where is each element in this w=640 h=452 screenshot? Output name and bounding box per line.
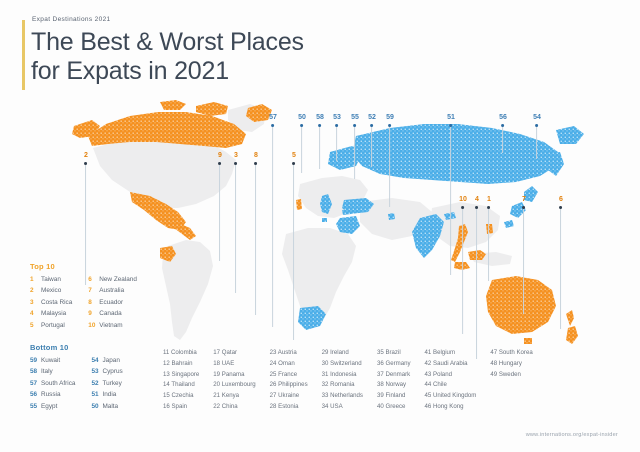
- rank-number: 6: [88, 275, 99, 285]
- country-name: Hong Kong: [433, 403, 464, 410]
- list-item: 20 Luxembourg: [213, 380, 255, 390]
- rank-number: 26: [270, 381, 278, 388]
- list-item: 6New Zealand: [88, 275, 137, 285]
- legend-top10-column: 1Taiwan2Mexico3Costa Rica4Malaysia5Portu…: [30, 275, 72, 331]
- list-item: 14 Thailand: [163, 380, 199, 390]
- rank-number: 55: [30, 402, 41, 412]
- marker-leader-line: [256, 165, 257, 315]
- country-name: Italy: [41, 367, 53, 377]
- rank-number: 46: [425, 403, 433, 410]
- marker-rank-label: 2: [84, 152, 88, 159]
- rank-number: 58: [30, 367, 41, 377]
- list-item: 7Australia: [88, 286, 137, 296]
- list-item: 54Japan: [91, 356, 122, 366]
- country-name: New Zealand: [99, 275, 137, 285]
- country-name: Oman: [278, 360, 295, 367]
- marker-rank-label: 9: [218, 152, 222, 159]
- country-name: Japan: [102, 356, 119, 366]
- rank-number: 8: [88, 298, 99, 308]
- rank-number: 59: [30, 356, 41, 366]
- country-name: Norway: [385, 381, 406, 388]
- marker-leader-line: [220, 165, 221, 261]
- best-marker-10: 10: [459, 196, 467, 334]
- list-item: 46 Hong Kong: [425, 402, 477, 412]
- list-item: 31 Indonesia: [322, 370, 363, 380]
- country-name: Czechia: [171, 392, 193, 399]
- country-name: Bahrain: [171, 360, 192, 367]
- rank-number: 48: [490, 360, 498, 367]
- country-name: Thailand: [171, 381, 194, 388]
- worst-marker-52: 52: [368, 114, 376, 167]
- best-marker-7: 7: [522, 196, 526, 314]
- list-item: 42 Saudi Arabia: [425, 359, 477, 369]
- list-item: 57South Africa: [30, 379, 75, 389]
- country-name: Colombia: [171, 349, 197, 356]
- list-item: 49 Sweden: [490, 370, 532, 380]
- list-item: 51India: [91, 390, 122, 400]
- rank-number: 47: [490, 349, 498, 356]
- country-name: Australia: [99, 286, 124, 296]
- worst-marker-50: 50: [298, 114, 306, 173]
- title-accent-bar: [22, 20, 25, 90]
- worst-marker-58: 58: [316, 114, 324, 169]
- country-name: France: [278, 371, 297, 378]
- marker-rank-label: 3: [234, 152, 238, 159]
- list-item: 41 Belgium: [425, 348, 477, 358]
- legend-top10-heading: Top 10: [30, 262, 137, 271]
- marker-leader-line: [462, 209, 463, 334]
- best-marker-9: 9: [218, 152, 222, 261]
- header: Expat Destinations 2021 The Best & Worst…: [30, 16, 450, 87]
- list-item: 25 France: [270, 370, 308, 380]
- marker-rank-label: 52: [368, 114, 376, 121]
- rank-number: 9: [88, 309, 99, 319]
- list-item: 58Italy: [30, 367, 75, 377]
- list-item: 29 Ireland: [322, 348, 363, 358]
- rank-number: 5: [30, 321, 41, 331]
- country-name: Philippines: [278, 381, 307, 388]
- country-name: Canada: [99, 309, 121, 319]
- list-item: 16 Spain: [163, 402, 199, 412]
- country-name: Mexico: [41, 286, 61, 296]
- rank-number: 31: [322, 371, 330, 378]
- list-item: 35 Brazil: [377, 348, 411, 358]
- country-name: Portugal: [41, 321, 65, 331]
- list-item: 39 Finland: [377, 391, 411, 401]
- country-name: Taiwan: [41, 275, 61, 285]
- worst-marker-53: 53: [333, 114, 341, 161]
- worst-marker-59: 59: [386, 114, 394, 207]
- rank-number: 49: [490, 371, 498, 378]
- list-item: 21 Kenya: [213, 391, 255, 401]
- worst-marker-51: 51: [447, 114, 455, 275]
- list-item: 18 UAE: [213, 359, 255, 369]
- marker-rank-label: 53: [333, 114, 341, 121]
- country-name: Poland: [433, 371, 452, 378]
- country-name: Ukraine: [278, 392, 299, 399]
- rank-number: 32: [322, 381, 330, 388]
- country-name: Spain: [171, 403, 187, 410]
- legend-top10: Top 10 1Taiwan2Mexico3Costa Rica4Malaysi…: [30, 262, 137, 331]
- list-item: 44 Chile: [425, 380, 477, 390]
- rank-number: 54: [91, 356, 102, 366]
- page-title: The Best & Worst Places for Expats in 20…: [31, 28, 450, 87]
- list-item: 30 Switzerland: [322, 359, 363, 369]
- list-item: 3Costa Rica: [30, 298, 72, 308]
- ranking-column: 23 Austria24 Oman25 France26 Philippines…: [270, 348, 308, 412]
- list-item: 5Portugal: [30, 321, 72, 331]
- marker-rank-label: 55: [351, 114, 359, 121]
- rank-number: 44: [425, 381, 433, 388]
- rank-number: 19: [213, 371, 221, 378]
- ranking-column: 41 Belgium42 Saudi Arabia43 Poland44 Chi…: [425, 348, 477, 412]
- list-item: 52Turkey: [91, 379, 122, 389]
- rank-number: 34: [322, 403, 330, 410]
- list-item: 26 Philippines: [270, 380, 308, 390]
- marker-rank-label: 1: [487, 196, 491, 203]
- rank-number: 56: [30, 390, 41, 400]
- rank-number: 50: [91, 402, 102, 412]
- marker-rank-label: 50: [298, 114, 306, 121]
- list-item: 55Egypt: [30, 402, 75, 412]
- list-item: 40 Greece: [377, 402, 411, 412]
- rank-number: 33: [322, 392, 330, 399]
- country-name: Sweden: [499, 371, 521, 378]
- list-item: 45 United Kingdom: [425, 391, 477, 401]
- legend-bottom10-column: 59Kuwait58Italy57South Africa56Russia55E…: [30, 356, 75, 412]
- list-item: 4Malaysia: [30, 309, 72, 319]
- list-item: 32 Romania: [322, 380, 363, 390]
- country-name: Turkey: [102, 379, 121, 389]
- marker-leader-line: [502, 127, 503, 153]
- list-item: 23 Austria: [270, 348, 308, 358]
- rank-number: 41: [425, 349, 433, 356]
- list-item: 36 Germany: [377, 359, 411, 369]
- country-name: Germany: [385, 360, 410, 367]
- list-item: 48 Hungary: [490, 359, 532, 369]
- legend-bottom10-heading: Bottom 10: [30, 343, 123, 352]
- best-marker-4: 4: [475, 196, 479, 359]
- marker-rank-label: 6: [559, 196, 563, 203]
- marker-leader-line: [371, 127, 372, 167]
- rank-number: 23: [270, 349, 278, 356]
- list-item: 43 Poland: [425, 370, 477, 380]
- country-name: Kenya: [222, 392, 239, 399]
- country-name: Ecuador: [99, 298, 123, 308]
- ranking-column: 29 Ireland30 Switzerland31 Indonesia32 R…: [322, 348, 363, 412]
- list-item: 27 Ukraine: [270, 391, 308, 401]
- best-marker-8: 8: [254, 152, 258, 315]
- list-item: 10Vietnam: [88, 321, 137, 331]
- country-name: USA: [330, 403, 343, 410]
- country-name: Malta: [102, 402, 118, 412]
- rank-number: 4: [30, 309, 41, 319]
- list-item: 17 Qatar: [213, 348, 255, 358]
- rank-number: 2: [30, 286, 41, 296]
- marker-rank-label: 8: [254, 152, 258, 159]
- country-name: South Korea: [499, 349, 533, 356]
- country-name: Panama: [222, 371, 245, 378]
- kicker-label: Expat Destinations 2021: [32, 16, 450, 23]
- country-name: Hungary: [499, 360, 522, 367]
- list-item: 56Russia: [30, 390, 75, 400]
- legend-top10-columns: 1Taiwan2Mexico3Costa Rica4Malaysia5Portu…: [30, 275, 137, 331]
- list-item: 8Ecuador: [88, 298, 137, 308]
- marker-leader-line: [489, 209, 490, 281]
- best-marker-3: 3: [234, 152, 238, 293]
- rank-number: 27: [270, 392, 278, 399]
- country-name: Brazil: [385, 349, 400, 356]
- worst-marker-54: 54: [533, 114, 541, 159]
- marker-leader-line: [477, 209, 478, 359]
- rank-number: 53: [91, 367, 102, 377]
- country-name: Vietnam: [99, 321, 122, 331]
- rank-number: 28: [270, 403, 278, 410]
- marker-rank-label: 59: [386, 114, 394, 121]
- best-marker-1: 1: [487, 196, 491, 281]
- rank-number: 17: [213, 349, 221, 356]
- country-name: Romania: [330, 381, 354, 388]
- list-item: 12 Bahrain: [163, 359, 199, 369]
- marker-leader-line: [536, 127, 537, 159]
- list-item: 59Kuwait: [30, 356, 75, 366]
- marker-rank-label: 56: [499, 114, 507, 121]
- legend-bottom10-column: 54Japan53Cyprus52Turkey51India50Malta: [91, 356, 122, 412]
- list-item: 33 Netherlands: [322, 391, 363, 401]
- list-item: 53Cyprus: [91, 367, 122, 377]
- marker-rank-label: 58: [316, 114, 324, 121]
- country-name: Qatar: [222, 349, 237, 356]
- marker-leader-line: [389, 127, 390, 207]
- list-item: 15 Czechia: [163, 391, 199, 401]
- marker-leader-line: [236, 165, 237, 293]
- ranking-column: 47 South Korea48 Hungary49 Sweden: [490, 348, 532, 412]
- worst-marker-55: 55: [351, 114, 359, 179]
- list-item: 19 Panama: [213, 370, 255, 380]
- country-name: Ireland: [330, 349, 349, 356]
- country-name: UAE: [222, 360, 235, 367]
- best-marker-6: 6: [559, 196, 563, 329]
- marker-leader-line: [294, 165, 295, 340]
- country-name: Malaysia: [41, 309, 66, 319]
- worst-marker-56: 56: [499, 114, 507, 153]
- list-item: 22 China: [213, 402, 255, 412]
- country-name: Russia: [41, 390, 61, 400]
- country-name: Switzerland: [330, 360, 362, 367]
- marker-leader-line: [450, 127, 451, 275]
- ranking-column: 11 Colombia12 Bahrain13 Singapore14 Thai…: [163, 348, 199, 412]
- rank-number: 52: [91, 379, 102, 389]
- country-name: Netherlands: [330, 392, 363, 399]
- list-item: 37 Denmark: [377, 370, 411, 380]
- rank-number: 25: [270, 371, 278, 378]
- country-name: Estonia: [278, 403, 298, 410]
- list-item: 28 Estonia: [270, 402, 308, 412]
- rank-number: 10: [88, 321, 99, 331]
- marker-leader-line: [354, 127, 355, 179]
- country-name: Greece: [385, 403, 405, 410]
- rank-number: 1: [30, 275, 41, 285]
- rank-number: 30: [322, 360, 330, 367]
- country-name: South Africa: [41, 379, 75, 389]
- country-name: Indonesia: [330, 371, 356, 378]
- country-name: Kuwait: [41, 356, 60, 366]
- country-name: Denmark: [385, 371, 410, 378]
- list-item: 24 Oman: [270, 359, 308, 369]
- rank-number: 22: [213, 403, 221, 410]
- marker-leader-line: [561, 209, 562, 329]
- rank-number: 51: [91, 390, 102, 400]
- marker-leader-line: [319, 127, 320, 169]
- footer-url: www.internations.org/expat-insider: [526, 432, 618, 438]
- country-name: Luxembourg: [222, 381, 256, 388]
- best-marker-5: 5: [292, 152, 296, 340]
- rank-number: 3: [30, 298, 41, 308]
- rank-number: 42: [425, 360, 433, 367]
- ranking-column: 17 Qatar18 UAE19 Panama20 Luxembourg21 K…: [213, 348, 255, 412]
- list-item: 38 Norway: [377, 380, 411, 390]
- list-item: 11 Colombia: [163, 348, 199, 358]
- marker-rank-label: 51: [447, 114, 455, 121]
- marker-rank-label: 54: [533, 114, 541, 121]
- rank-number: 43: [425, 371, 433, 378]
- marker-rank-label: 57: [269, 114, 277, 121]
- worst-marker-57: 57: [269, 114, 277, 327]
- rank-number: 57: [30, 379, 41, 389]
- rank-number: 18: [213, 360, 221, 367]
- country-name: Saudi Arabia: [433, 360, 468, 367]
- country-name: Costa Rica: [41, 298, 72, 308]
- list-item: 47 South Korea: [490, 348, 532, 358]
- list-item: 2Mexico: [30, 286, 72, 296]
- rank-number: 29: [322, 349, 330, 356]
- infographic-canvas: Expat Destinations 2021 The Best & Worst…: [0, 0, 640, 452]
- legend-bottom10: Bottom 10 59Kuwait58Italy57South Africa5…: [30, 343, 123, 412]
- rank-number: 20: [213, 381, 221, 388]
- country-name: China: [222, 403, 238, 410]
- marker-rank-label: 4: [475, 196, 479, 203]
- country-name: India: [102, 390, 116, 400]
- list-item: 13 Singapore: [163, 370, 199, 380]
- country-name: Chile: [433, 381, 447, 388]
- rank-number: 24: [270, 360, 278, 367]
- legend-top10-column: 6New Zealand7Australia8Ecuador9Canada10V…: [88, 275, 137, 331]
- ranking-column: 35 Brazil36 Germany37 Denmark38 Norway39…: [377, 348, 411, 412]
- rank-number: 7: [88, 286, 99, 296]
- rank-number: 45: [425, 392, 433, 399]
- marker-rank-label: 7: [522, 196, 526, 203]
- country-name: Finland: [385, 392, 405, 399]
- legend-bottom10-columns: 59Kuwait58Italy57South Africa56Russia55E…: [30, 356, 123, 412]
- list-item: 34 USA: [322, 402, 363, 412]
- marker-leader-line: [301, 127, 302, 173]
- country-name: United Kingdom: [433, 392, 476, 399]
- marker-leader-line: [272, 127, 273, 327]
- country-name: Austria: [278, 349, 297, 356]
- rank-number: 21: [213, 392, 221, 399]
- list-item: 1Taiwan: [30, 275, 72, 285]
- country-name: Cyprus: [102, 367, 122, 377]
- marker-leader-line: [524, 209, 525, 314]
- ranking-columns: 11 Colombia12 Bahrain13 Singapore14 Thai…: [163, 348, 533, 412]
- country-name: Belgium: [433, 349, 455, 356]
- country-name: Singapore: [171, 371, 199, 378]
- list-item: 9Canada: [88, 309, 137, 319]
- rank-number: 11: [163, 349, 171, 356]
- marker-rank-label: 5: [292, 152, 296, 159]
- marker-leader-line: [336, 127, 337, 161]
- list-item: 50Malta: [91, 402, 122, 412]
- country-name: Egypt: [41, 402, 57, 412]
- marker-rank-label: 10: [459, 196, 467, 203]
